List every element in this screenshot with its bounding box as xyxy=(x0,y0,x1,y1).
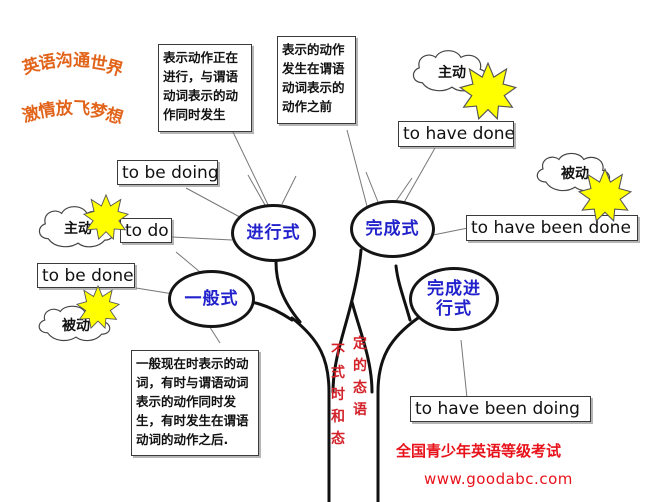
form-box-to-have-done: to have done xyxy=(398,121,514,147)
form-box-to-have-been-doing: to have been doing xyxy=(410,396,591,422)
starburst-passive-left xyxy=(76,285,120,329)
node-general-label: 一般式 xyxy=(185,289,239,309)
trunk-label-col-1: 不 式 时 和 态 xyxy=(330,340,346,450)
form-box-to-be-doing: to be doing xyxy=(117,160,218,185)
trunk-label: 不 式 时 和 态 定 的 态 语 xyxy=(330,340,378,460)
node-progressive-label: 进行式 xyxy=(247,223,301,243)
node-progressive: 进行式 xyxy=(231,204,316,262)
node-perfect: 完成式 xyxy=(350,200,435,258)
art-title-line2: 激情放飞梦想 xyxy=(22,100,124,125)
note-box-progressive: 表示动作正在进行，与谓语动词表示的动作同时发生 xyxy=(158,44,252,132)
node-perfect-label: 完成式 xyxy=(366,219,420,239)
node-general: 一般式 xyxy=(168,270,255,328)
starburst-active-left xyxy=(83,194,129,240)
note-box-general: 一般现在时表示的动词，有时与谓语动词表示的动作同时发生，有时发生在谓语动词的动作… xyxy=(131,350,259,456)
trunk-label-col-2: 定 的 态 语 xyxy=(352,333,368,421)
footer-organization: 全国青少年英语等级考试 xyxy=(396,440,561,461)
node-perfect-progressive: 完成进行式 xyxy=(409,267,499,331)
footer-website: www.goodabc.com xyxy=(424,470,573,488)
starburst-active-right xyxy=(459,62,517,120)
note-box-perfect: 表示的动作发生在谓语动词表示的动作之前 xyxy=(277,36,356,124)
starburst-passive-right xyxy=(578,168,632,222)
node-perfect-progressive-label: 完成进行式 xyxy=(426,279,482,319)
art-title-line1: 英语沟通世界 xyxy=(22,52,124,77)
